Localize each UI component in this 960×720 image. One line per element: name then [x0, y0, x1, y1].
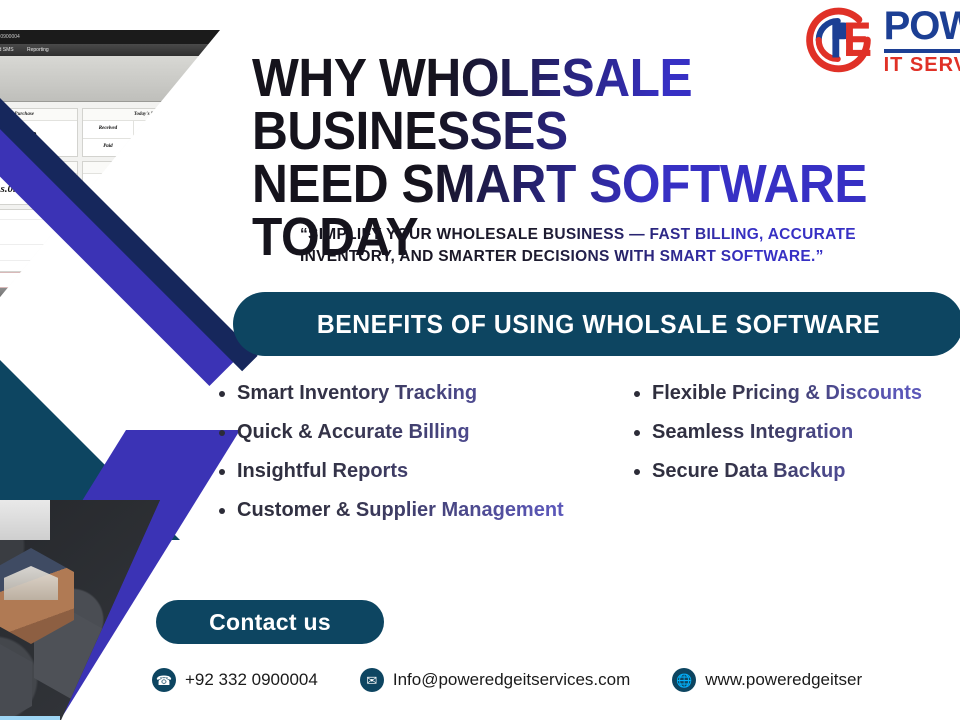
- card-purchase-return: Today's Total Purchase Return Rs.0.00: [82, 161, 218, 205]
- list-item: Quick & Accurate Billing: [215, 421, 645, 444]
- phone-icon: ☎: [152, 668, 176, 692]
- envelope-icon: ✉: [360, 668, 384, 692]
- contact-details: ☎ +92 332 0900004 ✉ Info@poweredgeitserv…: [152, 668, 862, 692]
- list-item: Flexible Pricing & Discounts: [630, 382, 960, 405]
- menu-item-reporting: Reporting: [21, 44, 55, 56]
- list-item: Insightful Reports: [215, 460, 645, 483]
- contact-website[interactable]: 🌐 www.poweredgeitser: [672, 668, 862, 692]
- benefits-column-left: Smart Inventory Tracking Quick & Accurat…: [215, 382, 645, 538]
- contact-us-button[interactable]: Contact us: [156, 600, 384, 644]
- website-url: www.poweredgeitser: [705, 670, 862, 690]
- screenshot-menubar: nd Cards eMail and SMS Reporting: [0, 44, 220, 56]
- list-item: Seamless Integration: [630, 421, 960, 444]
- card-receipt: Today's Receipt Received Rs.0.00 Paid Rs…: [82, 108, 218, 157]
- printer-icon: ⎙: [0, 299, 34, 313]
- photo-bottom-strip: [0, 716, 60, 720]
- contact-phone[interactable]: ☎ +92 332 0900004: [152, 668, 318, 692]
- headline-line-1: WHY WHOLESALE BUSINESSES: [252, 52, 896, 158]
- screenshot-titlebar: nd. | Support Line - 0321 0900004: [0, 30, 220, 44]
- contact-email[interactable]: ✉ Info@poweredgeitservices.com: [360, 668, 630, 692]
- benefits-banner: BENEFITS OF USING WHOLSALE SOFTWARE: [233, 292, 960, 356]
- list-item: Smart Inventory Tracking: [215, 382, 645, 405]
- globe-icon: 🌐: [672, 668, 696, 692]
- list-item: Customer & Supplier Management: [215, 499, 645, 522]
- logo-word: POW: [884, 6, 960, 46]
- benefits-banner-label: BENEFITS OF USING WHOLSALE SOFTWARE: [316, 309, 879, 340]
- mail-icon: ✉: [34, 299, 125, 313]
- tagline-quote: “SIMPLIFY YOUR WHOLESALE BUSINESS — FAST…: [300, 224, 940, 269]
- list-item: Secure Data Backup: [630, 460, 960, 483]
- photo-top-strip: ☰: [0, 500, 50, 540]
- benefits-column-right: Flexible Pricing & Discounts Seamless In…: [630, 382, 960, 499]
- menu-item-email-sms: eMail and SMS: [0, 44, 20, 56]
- contact-us-label: Contact us: [209, 609, 331, 636]
- poster-canvas: nd. | Support Line - 0321 0900004 nd Car…: [0, 0, 960, 720]
- screenshot-ribbon: Execute Query: [0, 56, 220, 102]
- phone-number: +92 332 0900004: [185, 670, 318, 690]
- email-address: Info@poweredgeitservices.com: [393, 670, 630, 690]
